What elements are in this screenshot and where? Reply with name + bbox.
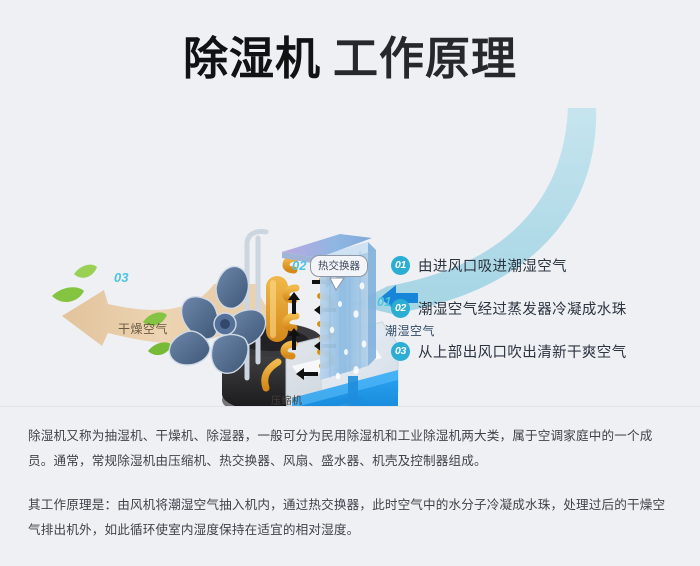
badge-humid-air: 01 (377, 294, 391, 309)
label-compressor: 压缩机 (271, 392, 303, 407)
description-text: 除湿机又称为抽湿机、干燥机、除湿器，一般可分为民用除湿机和工业除湿机两大类，属于… (28, 424, 676, 542)
paragraph-principle: 其工作原理是：由风机将潮湿空气抽入机内，通过热交换器，此时空气中的水分子冷凝成水… (28, 493, 676, 542)
badge-heat-exchanger: 02 (292, 258, 306, 273)
title-part-1: 除湿机 (183, 33, 321, 84)
section-divider (0, 406, 700, 407)
page-root: 除湿机工作原理 (0, 0, 700, 566)
legend-item: 01 由进风口吸进潮湿空气 (391, 255, 691, 276)
steps-legend: 01 由进风口吸进潮湿空气 02 潮湿空气经过蒸发器冷凝成水珠 03 从上部出风… (391, 255, 691, 362)
heat-exchanger-callout: 热交换器 (310, 255, 368, 277)
paragraph-definition: 除湿机又称为抽湿机、干燥机、除湿器，一般可分为民用除湿机和工业除湿机两大类，属于… (28, 424, 676, 473)
legend-item: 03 从上部出风口吹出清新干爽空气 (391, 341, 691, 362)
legend-badge: 01 (391, 256, 410, 275)
legend-label: 从上部出风口吹出清新干爽空气 (418, 341, 627, 362)
badge-dry-air: 03 (114, 270, 128, 285)
page-title: 除湿机工作原理 (0, 34, 700, 84)
legend-label: 由进风口吸进潮湿空气 (418, 255, 567, 276)
legend-badge: 02 (391, 299, 410, 318)
label-dry-air: 干燥空气 (118, 320, 168, 337)
legend-item: 02 潮湿空气经过蒸发器冷凝成水珠 (391, 298, 691, 319)
legend-badge: 03 (391, 342, 410, 361)
title-part-2: 工作原理 (333, 33, 517, 84)
legend-label: 潮湿空气经过蒸发器冷凝成水珠 (418, 298, 627, 319)
